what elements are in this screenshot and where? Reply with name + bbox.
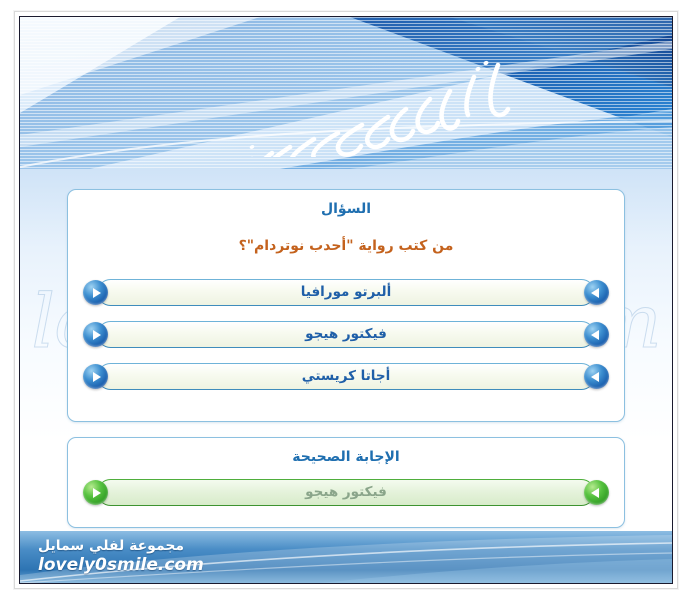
options-list: ألبرتو مورافيا فيكتور هيجو	[83, 278, 609, 391]
triangle-right-glyph	[93, 488, 101, 498]
question-text: من كتب رواية "أحدب نوتردام"؟	[68, 238, 624, 254]
play-left-icon[interactable]	[584, 322, 609, 347]
play-right-icon[interactable]	[83, 322, 108, 347]
screenshot-frame: lovely0smile.com السؤال من كتب رواية "أح…	[0, 0, 692, 602]
correct-answer-label: فيكتور هيجو	[305, 486, 387, 500]
option-label: أجاتا كريستي	[302, 370, 391, 384]
correct-answer-pill[interactable]: فيكتور هيجو	[97, 479, 595, 506]
logo-calligraphy	[192, 47, 522, 157]
answer-panel-title: الإجابة الصحيحة	[68, 449, 624, 465]
option-row[interactable]: أجاتا كريستي	[83, 362, 609, 391]
footer: مجموعة لفلي سمايل lovely0smile.com	[20, 531, 672, 583]
option-row[interactable]: فيكتور هيجو	[83, 320, 609, 349]
play-left-icon[interactable]	[584, 364, 609, 389]
triangle-left-glyph	[591, 372, 599, 382]
option-pill[interactable]: فيكتور هيجو	[97, 321, 595, 348]
triangle-right-glyph	[93, 372, 101, 382]
triangle-left-glyph	[591, 288, 599, 298]
banner	[20, 17, 672, 169]
question-panel: السؤال من كتب رواية "أحدب نوتردام"؟ ألبر…	[67, 189, 625, 422]
play-left-icon[interactable]	[584, 480, 609, 505]
option-label: فيكتور هيجو	[305, 328, 387, 342]
content-body: lovely0smile.com السؤال من كتب رواية "أح…	[20, 169, 672, 531]
triangle-right-glyph	[93, 330, 101, 340]
option-pill[interactable]: أجاتا كريستي	[97, 363, 595, 390]
play-left-icon[interactable]	[584, 280, 609, 305]
triangle-left-glyph	[591, 330, 599, 340]
triangle-right-glyph	[93, 288, 101, 298]
question-panel-title: السؤال	[68, 201, 624, 217]
triangle-left-glyph	[591, 488, 599, 498]
option-label: ألبرتو مورافيا	[301, 286, 391, 300]
footer-arabic-label: مجموعة لفلي سمايل	[38, 537, 204, 555]
play-right-icon[interactable]	[83, 480, 108, 505]
option-row[interactable]: ألبرتو مورافيا	[83, 278, 609, 307]
play-right-icon[interactable]	[83, 364, 108, 389]
play-right-icon[interactable]	[83, 280, 108, 305]
answer-panel: الإجابة الصحيحة فيكتور هيجو	[67, 437, 625, 528]
footer-site-label: lovely0smile.com	[38, 555, 204, 575]
quiz-card: lovely0smile.com السؤال من كتب رواية "أح…	[19, 16, 673, 584]
correct-answer-row[interactable]: فيكتور هيجو	[83, 478, 609, 507]
option-pill[interactable]: ألبرتو مورافيا	[97, 279, 595, 306]
footer-text: مجموعة لفلي سمايل lovely0smile.com	[38, 537, 204, 575]
